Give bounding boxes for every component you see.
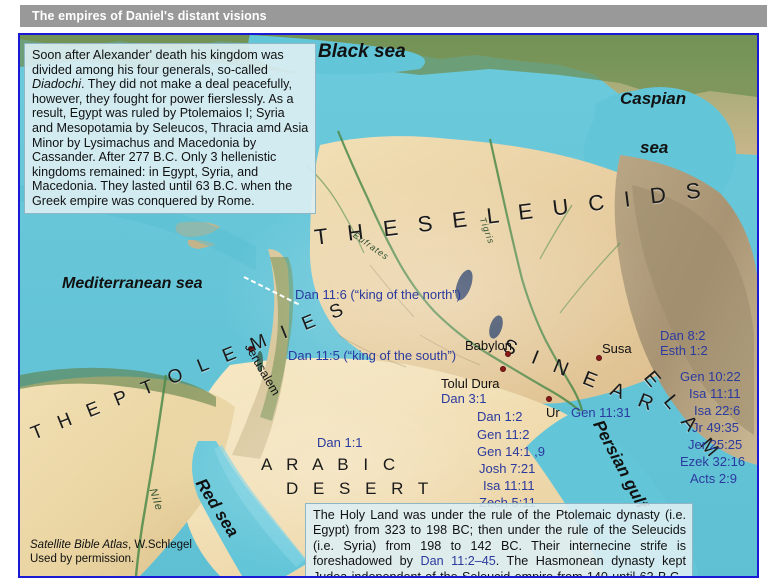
info-box-bottom-reference: Dan 11:2–45 <box>421 554 496 568</box>
city-dot-babylon <box>505 351 511 357</box>
city-dot-tolul-dura <box>500 366 506 372</box>
info-box-top-text: Soon after Alexander' death his kingdom … <box>32 48 308 208</box>
attribution-source: Satellite Bible Atlas <box>30 539 128 551</box>
attribution-line1: Satellite Bible Atlas, W.Schlegel <box>30 538 192 552</box>
page-title: The empires of Daniel's distant visions <box>20 5 767 27</box>
map-frame: Black sea Caspian sea Mediterranean sea … <box>18 33 759 578</box>
desert-label-line1: A R A B I C <box>261 455 400 475</box>
jerusalem-pointer-line <box>242 275 300 305</box>
desert-label-line2: D E S E R T <box>286 479 433 499</box>
attribution: Satellite Bible Atlas, W.Schlegel Used b… <box>30 538 192 566</box>
attribution-author: , W.Schlegel <box>128 539 192 551</box>
info-box-bottom: The Holy Land was under the rule of the … <box>305 503 693 576</box>
city-dot-ur <box>546 396 552 402</box>
info-box-top-italic-term: Diadochi <box>32 77 81 91</box>
city-dot-susa <box>596 355 602 361</box>
city-dot-jerusalem <box>248 346 254 352</box>
map-canvas: Black sea Caspian sea Mediterranean sea … <box>20 35 757 576</box>
info-box-top: Soon after Alexander' death his kingdom … <box>24 43 316 214</box>
attribution-line2: Used by permission. <box>30 552 192 566</box>
